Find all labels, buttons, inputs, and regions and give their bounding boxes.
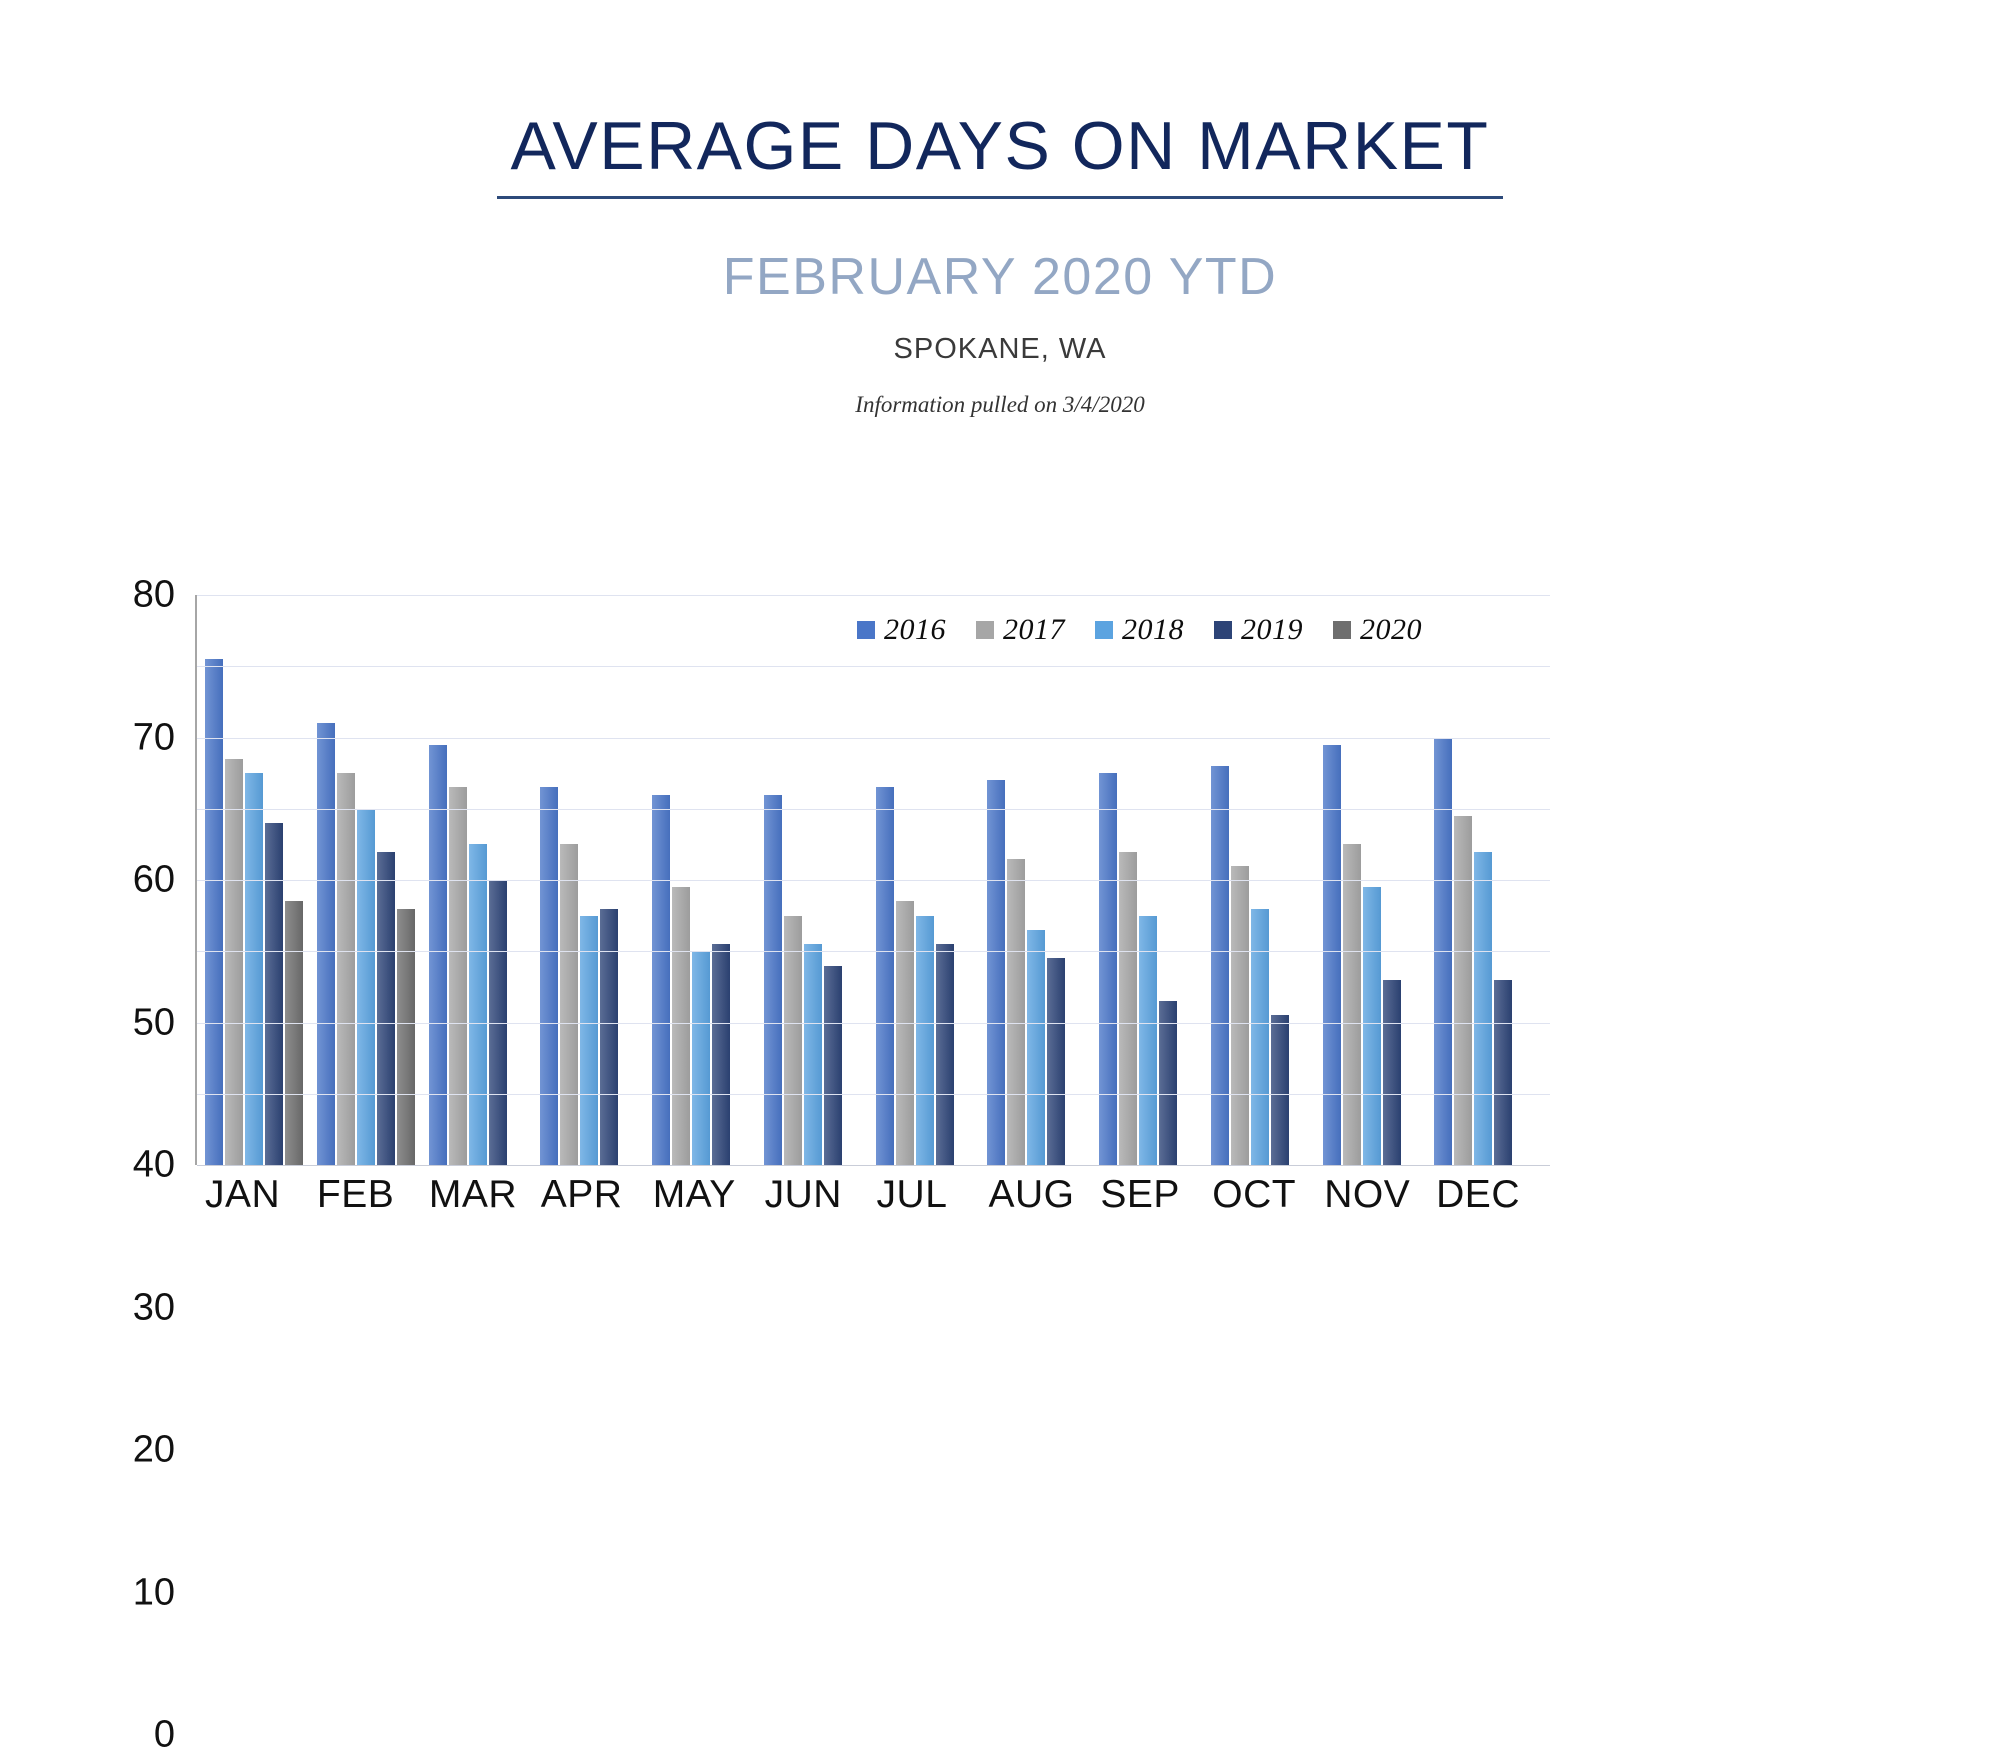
bar-2019-sep[interactable] (1159, 1001, 1177, 1165)
bar-2016-jan[interactable] (205, 659, 223, 1165)
bar-2018-may[interactable] (692, 951, 710, 1165)
bar-2019-aug[interactable] (1047, 958, 1065, 1165)
bar-2019-apr[interactable] (600, 909, 618, 1166)
y-axis-tick-label: 70 (133, 716, 197, 759)
bar-2017-feb[interactable] (337, 773, 355, 1165)
legend-swatch-icon (976, 621, 994, 639)
report-location: SPOKANE, WA (0, 333, 2000, 366)
gridline: 50 (197, 809, 1550, 810)
bar-2016-mar[interactable] (429, 745, 447, 1165)
bar-2016-nov[interactable] (1323, 745, 1341, 1165)
gridline: 30 (197, 951, 1550, 952)
legend-item-2018[interactable]: 2018 (1095, 613, 1184, 647)
legend-swatch-icon (1333, 621, 1351, 639)
x-axis-label-jun: JUN (761, 1173, 873, 1217)
bar-2016-feb[interactable] (317, 723, 335, 1165)
x-axis-label-apr: APR (537, 1173, 649, 1217)
page-title: AVERAGE DAYS ON MARKET (511, 112, 1490, 180)
report-subtitle: FEBRUARY 2020 YTD (0, 247, 2000, 307)
bar-2017-jan[interactable] (225, 759, 243, 1165)
bar-2017-aug[interactable] (1007, 859, 1025, 1165)
x-axis-label-nov: NOV (1320, 1173, 1432, 1217)
bar-2018-apr[interactable] (580, 916, 598, 1165)
y-axis-tick-label: 40 (133, 1144, 197, 1187)
bar-2019-dec[interactable] (1494, 980, 1512, 1165)
gridline: 70 (197, 666, 1550, 667)
bar-2017-sep[interactable] (1119, 852, 1137, 1166)
x-axis-label-sep: SEP (1096, 1173, 1208, 1217)
bar-2017-oct[interactable] (1231, 866, 1249, 1165)
legend-label: 2019 (1241, 613, 1303, 647)
x-axis-labels: JANFEBMARAPRMAYJUNJULAUGSEPOCTNOVDEC (195, 1173, 1550, 1217)
y-axis-tick-label: 20 (133, 1429, 197, 1472)
bar-2019-oct[interactable] (1271, 1015, 1289, 1165)
title-container: AVERAGE DAYS ON MARKET (497, 112, 1504, 199)
bar-2019-jan[interactable] (265, 823, 283, 1165)
gridline: 0 (197, 1165, 1550, 1166)
bar-2018-sep[interactable] (1139, 916, 1157, 1165)
x-axis-label-may: MAY (649, 1173, 761, 1217)
legend-item-2017[interactable]: 2017 (976, 613, 1065, 647)
x-axis-label-jul: JUL (873, 1173, 985, 1217)
legend-label: 2016 (884, 613, 946, 647)
legend-swatch-icon (1214, 621, 1232, 639)
bar-2018-mar[interactable] (469, 844, 487, 1165)
gridline: 20 (197, 1023, 1550, 1024)
bar-2017-jun[interactable] (784, 916, 802, 1165)
bar-2018-jul[interactable] (916, 916, 934, 1165)
gridline: 40 (197, 880, 1550, 881)
bar-2019-may[interactable] (712, 944, 730, 1165)
bar-2016-jul[interactable] (876, 787, 894, 1165)
bar-2018-jan[interactable] (245, 773, 263, 1165)
bar-2016-may[interactable] (652, 795, 670, 1166)
bar-2018-dec[interactable] (1474, 852, 1492, 1166)
legend-item-2020[interactable]: 2020 (1333, 613, 1422, 647)
x-axis-label-dec: DEC (1432, 1173, 1544, 1217)
legend-label: 2020 (1360, 613, 1422, 647)
data-pulled-note: Information pulled on 3/4/2020 (0, 392, 2000, 418)
gridline: 10 (197, 1094, 1550, 1095)
y-axis-tick-label: 50 (133, 1001, 197, 1044)
bar-2020-jan[interactable] (285, 901, 303, 1165)
legend-label: 2017 (1003, 613, 1065, 647)
bar-2017-nov[interactable] (1343, 844, 1361, 1165)
bar-2016-sep[interactable] (1099, 773, 1117, 1165)
bar-2017-jul[interactable] (896, 901, 914, 1165)
gridline: 80 (197, 595, 1550, 596)
bar-2018-feb[interactable] (357, 809, 375, 1165)
legend-label: 2018 (1122, 613, 1184, 647)
bar-2017-dec[interactable] (1454, 816, 1472, 1165)
x-axis-label-mar: MAR (425, 1173, 537, 1217)
bar-2020-feb[interactable] (397, 909, 415, 1166)
legend-swatch-icon (1095, 621, 1113, 639)
bar-2018-oct[interactable] (1251, 909, 1269, 1166)
x-axis-label-oct: OCT (1208, 1173, 1320, 1217)
bar-2016-apr[interactable] (540, 787, 558, 1165)
bar-2018-nov[interactable] (1363, 887, 1381, 1165)
x-axis-label-jan: JAN (201, 1173, 313, 1217)
y-axis-tick-label: 60 (133, 859, 197, 902)
y-axis-tick-label: 0 (154, 1714, 197, 1757)
bar-2016-oct[interactable] (1211, 766, 1229, 1165)
x-axis-label-feb: FEB (313, 1173, 425, 1217)
bar-2017-apr[interactable] (560, 844, 578, 1165)
bar-2018-jun[interactable] (804, 944, 822, 1165)
report-page: AVERAGE DAYS ON MARKET FEBRUARY 2020 YTD… (0, 0, 2000, 1405)
y-axis-tick-label: 10 (133, 1571, 197, 1614)
bar-2016-aug[interactable] (987, 780, 1005, 1165)
bar-2019-jul[interactable] (936, 944, 954, 1165)
chart-legend: 20162017201820192020 (857, 613, 1422, 647)
gridline: 60 (197, 738, 1550, 739)
chart-plot-area: 20162017201820192020 80706050403020100 (195, 595, 1550, 1165)
bar-2019-nov[interactable] (1383, 980, 1401, 1165)
y-axis-tick-label: 30 (133, 1286, 197, 1329)
bar-2017-mar[interactable] (449, 787, 467, 1165)
chart-container: 20162017201820192020 80706050403020100 J… (120, 595, 1880, 995)
legend-swatch-icon (857, 621, 875, 639)
bar-2018-aug[interactable] (1027, 930, 1045, 1165)
bar-2019-jun[interactable] (824, 966, 842, 1166)
bar-2017-may[interactable] (672, 887, 690, 1165)
legend-item-2019[interactable]: 2019 (1214, 613, 1303, 647)
bar-2019-feb[interactable] (377, 852, 395, 1166)
legend-item-2016[interactable]: 2016 (857, 613, 946, 647)
x-axis-label-aug: AUG (984, 1173, 1096, 1217)
report-header: AVERAGE DAYS ON MARKET FEBRUARY 2020 YTD… (0, 0, 2000, 418)
y-axis-tick-label: 80 (133, 574, 197, 617)
bar-2016-jun[interactable] (764, 795, 782, 1166)
